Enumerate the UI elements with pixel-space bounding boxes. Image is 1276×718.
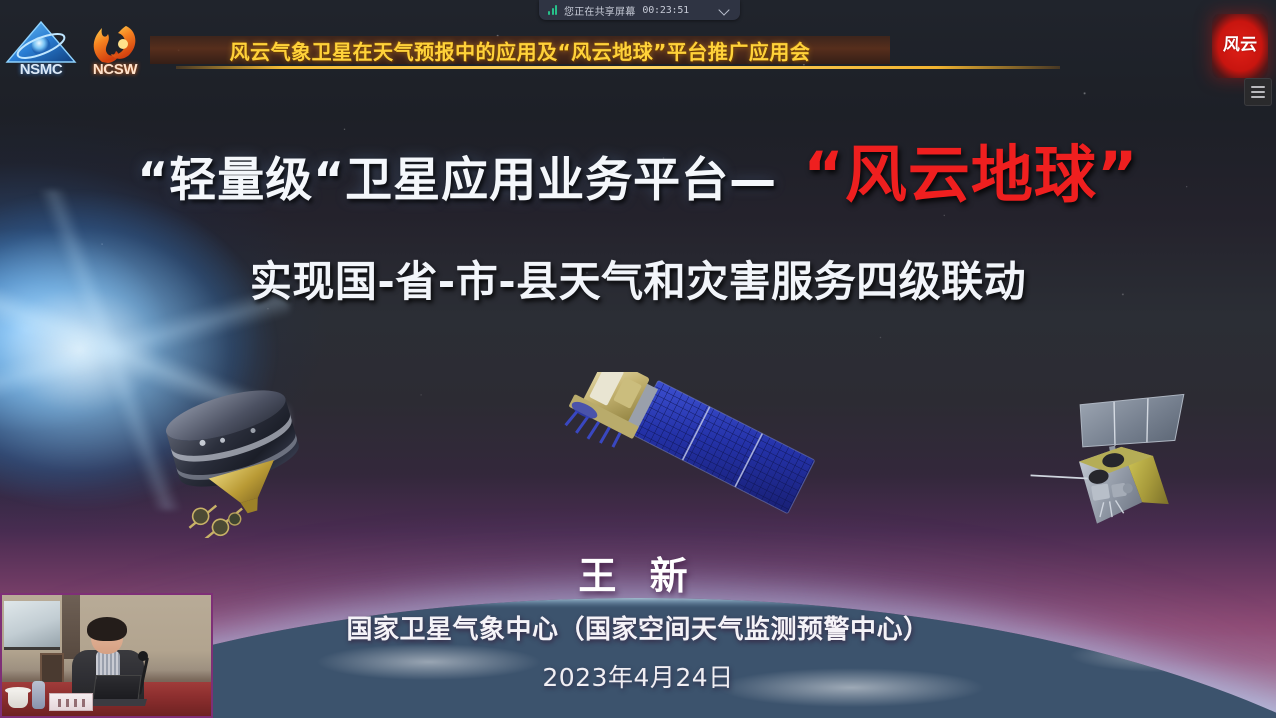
fy2-spin-stabilized-satellite: [142, 378, 332, 538]
speaker-camera-scene: [2, 595, 211, 716]
fengyun-seal-text: 风云: [1223, 37, 1258, 54]
screen-share-stage: “轻量级“卫星应用业务平台— “风云地球” 实现国-省-市-县天气和灾害服务四级…: [0, 0, 1276, 718]
event-banner: 风云气象卫星在天气预报中的应用及“风云地球”平台推广应用会: [150, 36, 890, 64]
satellite-solar-array-icon: [548, 372, 818, 542]
name-placard-text: [58, 699, 86, 707]
name-placard: [49, 693, 93, 711]
chevron-down-icon[interactable]: [719, 4, 731, 16]
satellite-box-icon: [1028, 386, 1228, 541]
signal-bars-icon: [548, 5, 557, 15]
nsmc-orbit-logo-icon: [4, 20, 78, 64]
slide-subtitle: 实现国-省-市-县天气和灾害服务四级联动: [0, 248, 1276, 309]
speaker-camera-thumbnail[interactable]: [0, 593, 213, 718]
camera-projection-screen: [4, 601, 60, 650]
microphone-head: [138, 651, 148, 661]
speaker-hair: [87, 617, 127, 641]
nsmc-logo: NSMC: [4, 20, 78, 78]
event-banner-underline: [176, 66, 1060, 69]
share-timer: 00:23:51: [642, 5, 689, 16]
fy4-box-satellite: [1028, 386, 1228, 541]
event-banner-title: 风云气象卫星在天气预报中的应用及“风云地球”平台推广应用会: [230, 36, 811, 65]
ncsw-logo: NCSW: [78, 20, 152, 78]
hamburger-menu-icon-line-3: [1251, 96, 1265, 98]
share-status-text: 您正在共享屏幕: [564, 3, 635, 18]
teacup: [8, 690, 28, 708]
fy3-polar-orbit-satellite: [548, 372, 818, 542]
nsmc-logo-label: NSMC: [4, 61, 78, 78]
slide-main-title: “轻量级“卫星应用业务平台— “风云地球”: [0, 124, 1276, 214]
hamburger-menu-icon-line-1: [1251, 86, 1265, 88]
satellite-drum-icon: [142, 378, 332, 538]
ncsw-logo-label: NCSW: [78, 61, 152, 78]
fengyun-seal: 风云: [1212, 14, 1268, 78]
laptop-screen: [92, 675, 141, 701]
laptop-base: [89, 699, 147, 706]
camera-door: [62, 595, 80, 659]
organization-logos: NSMC NCSW: [4, 20, 154, 78]
hamburger-menu-icon-line-2: [1251, 91, 1265, 93]
presenter-name: 王 新: [0, 545, 1276, 600]
slide-title-red-part: “风云地球”: [803, 124, 1139, 214]
water-bottle: [32, 681, 45, 709]
ncsw-flame-logo-icon: [78, 20, 152, 64]
screen-share-indicator[interactable]: 您正在共享屏幕 00:23:51: [539, 0, 740, 20]
slide-title-white-part: “轻量级“卫星应用业务平台—: [137, 141, 777, 210]
hamburger-menu-button[interactable]: [1244, 78, 1272, 106]
